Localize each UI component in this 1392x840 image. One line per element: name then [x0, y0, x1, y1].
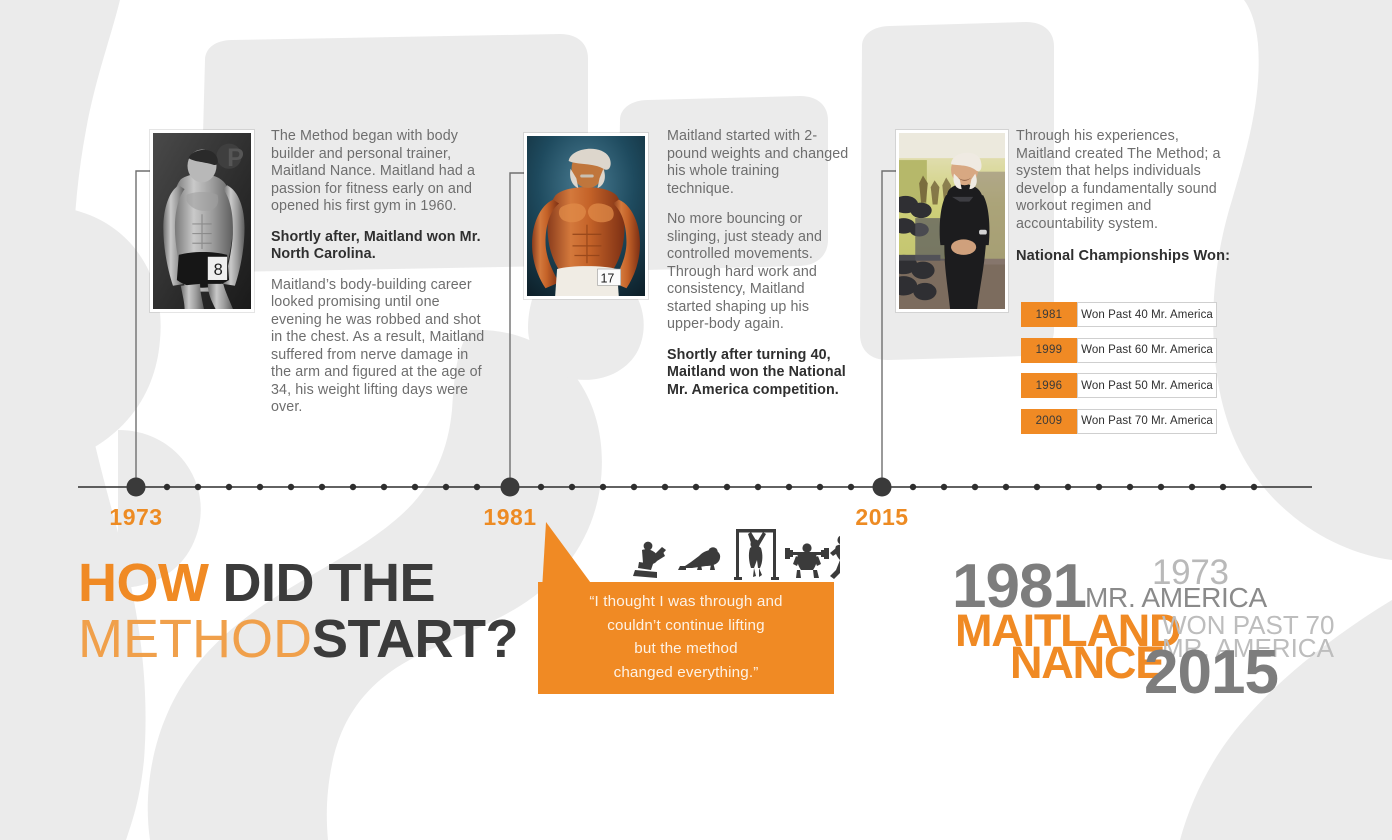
photo-1973: P 8 — [150, 130, 254, 312]
championship-year: 2009 — [1021, 409, 1077, 434]
running-icon — [830, 535, 840, 579]
paragraph: The Method began with body builder and p… — [271, 128, 487, 216]
championship-title: Won Past 70 Mr. America — [1077, 409, 1217, 434]
text-column-2015: Through his experiences, Maitland create… — [1016, 128, 1232, 233]
svg-text:17: 17 — [600, 272, 614, 286]
timeline-marker-2015 — [873, 478, 892, 497]
wordcloud-2015: 2015 — [1144, 642, 1278, 704]
wordcloud-nance: NANCE — [1010, 640, 1164, 685]
quote-line-3: but the method — [538, 637, 834, 661]
championships-table: 1981 Won Past 40 Mr. America 1999 Won Pa… — [1021, 302, 1217, 444]
headline-method: METHOD — [78, 609, 312, 669]
timeline-marker-1973 — [127, 478, 146, 497]
headline-how: HOW — [78, 553, 208, 613]
championship-title: Won Past 60 Mr. America — [1077, 338, 1217, 363]
championship-year: 1999 — [1021, 338, 1077, 363]
year-label-1981: 1981 — [483, 504, 536, 531]
photo-1981: 17 — [524, 133, 648, 299]
push-up-icon — [678, 547, 720, 570]
quote-line-2: couldn’t continue lifting — [538, 614, 834, 638]
quote-text: “I thought I was through and couldn’t co… — [538, 590, 834, 684]
squat-barbell-icon — [785, 543, 829, 578]
quote-line-1: “I thought I was through and — [538, 590, 834, 614]
year-label-1973: 1973 — [109, 504, 162, 531]
paragraph: Maitland’s body-building career looked p… — [271, 277, 487, 417]
infographic-canvas: P 8 — [0, 0, 1392, 840]
paragraph: Through his experiences, Maitland create… — [1016, 128, 1232, 233]
table-row: 1996 Won Past 50 Mr. America — [1021, 373, 1217, 398]
pull-up-bar-icon — [734, 529, 779, 580]
table-row: 1981 Won Past 40 Mr. America — [1021, 302, 1217, 327]
word-cloud: 1981 MR. AMERICA 1973 MAITLAND NANCE WON… — [952, 552, 1272, 697]
paragraph-bold: Shortly after, Maitland won Mr. North Ca… — [271, 229, 487, 264]
page-title: HOWDID THE METHODSTART? — [78, 558, 518, 664]
year-label-2015: 2015 — [855, 504, 908, 531]
championship-year: 1981 — [1021, 302, 1077, 327]
table-row: 1999 Won Past 60 Mr. America — [1021, 338, 1217, 363]
championship-title: Won Past 40 Mr. America — [1077, 302, 1217, 327]
quote-line-4: changed everything.” — [538, 661, 834, 685]
photo-2015 — [896, 130, 1008, 312]
headline-start: START? — [312, 609, 518, 669]
svg-text:P: P — [227, 144, 244, 172]
text-column-1981: Maitland started with 2-pound weights an… — [667, 128, 849, 399]
championship-title: Won Past 50 Mr. America — [1077, 373, 1217, 398]
headline-did-the: DID THE — [222, 553, 435, 613]
table-row: 2009 Won Past 70 Mr. America — [1021, 409, 1217, 434]
championship-year: 1996 — [1021, 373, 1077, 398]
championships-heading: National Championships Won: — [1016, 248, 1230, 264]
rowing-machine-icon — [633, 542, 666, 578]
paragraph: No more bouncing or slinging, just stead… — [667, 211, 849, 334]
fitness-icons-group — [630, 524, 840, 586]
timeline-marker-1981 — [501, 478, 520, 497]
text-column-1973: The Method began with body builder and p… — [271, 128, 487, 417]
paragraph: Maitland started with 2-pound weights an… — [667, 128, 849, 198]
wordcloud-1973: 1973 — [1152, 555, 1229, 590]
paragraph-bold: Shortly after turning 40, Maitland won t… — [667, 347, 849, 400]
callout-tail — [542, 522, 596, 590]
svg-text:8: 8 — [214, 261, 223, 279]
